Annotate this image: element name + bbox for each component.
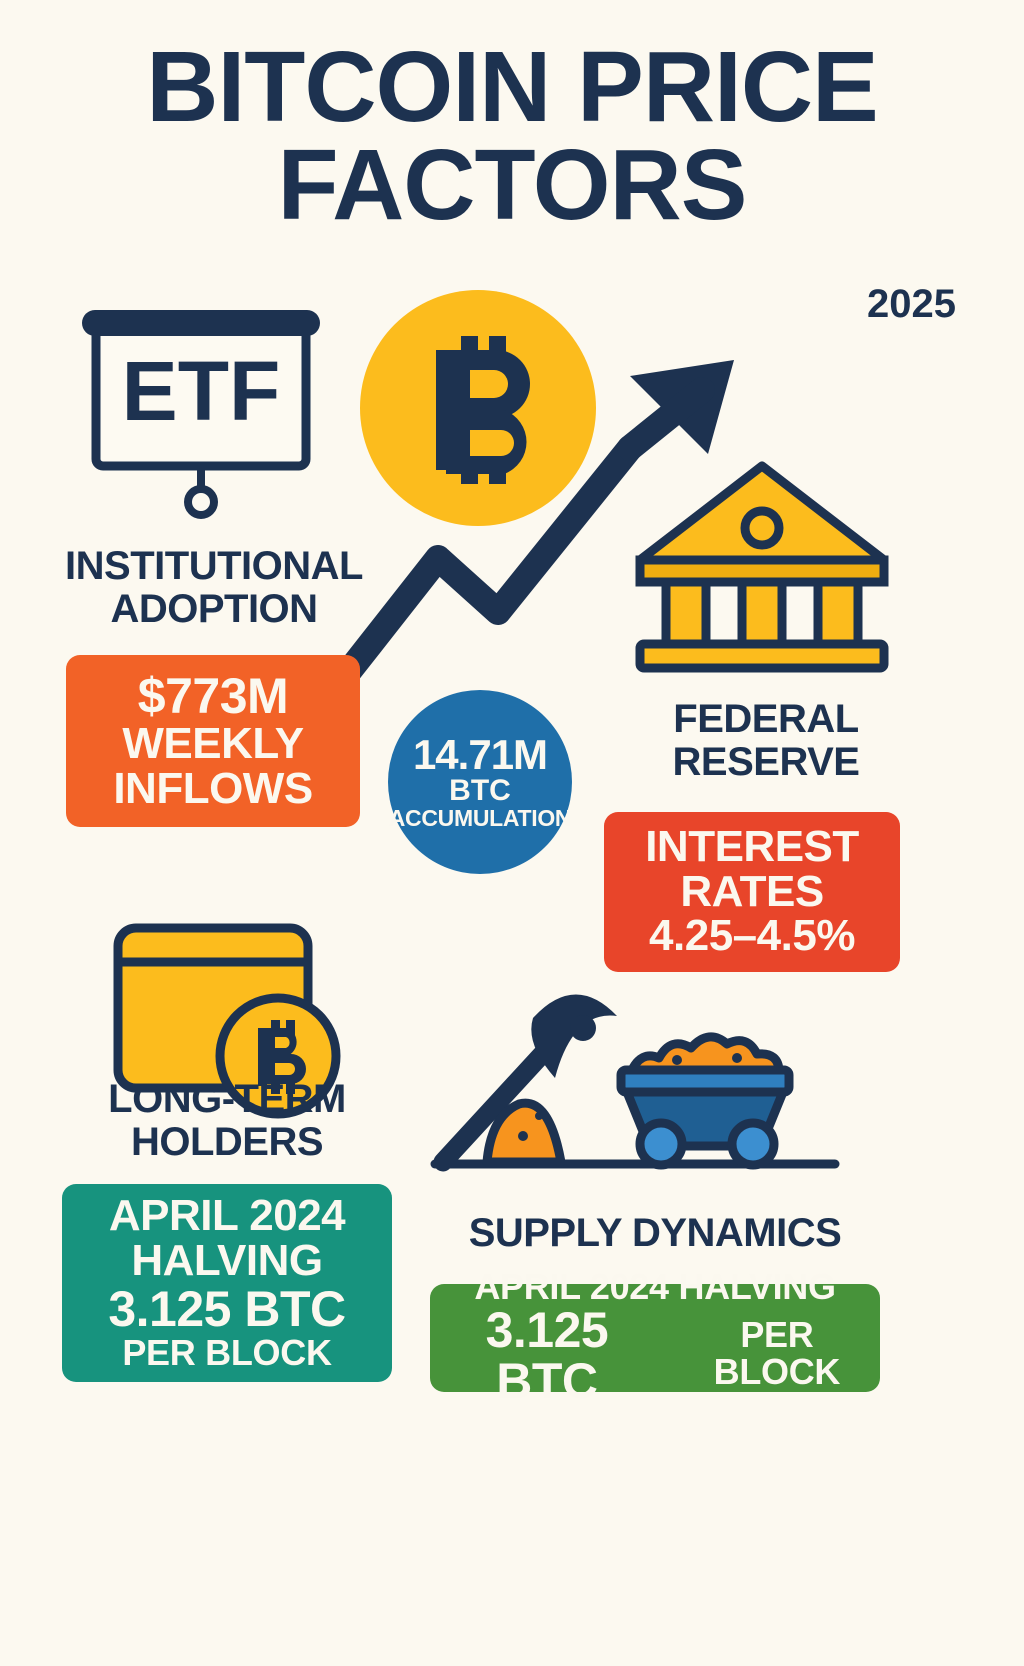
accumulation-line2: BTC [449,776,511,807]
accumulation-line3: ACCUMULATION [389,807,572,830]
lth-halving-line1: APRIL 2024 [109,1194,345,1239]
accumulation-value: 14.71M [413,734,547,777]
etf-icon-text: ETF [122,344,281,438]
interest-rates-line1: INTEREST [645,825,859,870]
supply-halving-line2: 3.125 BTC PER BLOCK [430,1305,880,1407]
supply-dynamics-label-text: SUPPLY DYNAMICS [420,1212,890,1255]
long-term-holders-label-line1: LONG-TERM [62,1078,392,1121]
federal-reserve-label-line1: FEDERAL [630,698,902,741]
supply-halving-line2-weak: PER BLOCK [674,1317,880,1390]
long-term-holders-label-line2: HOLDERS [62,1121,392,1164]
long-term-holders-label: LONG-TERM HOLDERS [62,1078,392,1164]
etf-presentation-screen-icon: ETF [76,308,326,523]
supply-halving-line2-strong: 3.125 BTC [430,1305,664,1407]
interest-rates-stat-box: INTEREST RATES 4.25–4.5% [604,812,900,972]
lth-halving-line2: HALVING [131,1239,322,1284]
institutional-adoption-label: INSTITUTIONAL ADOPTION [44,545,384,631]
lth-halving-line3: 3.125 BTC [108,1284,345,1335]
title-line-1: BITCOIN PRICE [0,38,1024,136]
title-line-2: FACTORS [0,136,1024,234]
interest-rates-line2: RATES [680,870,823,915]
supply-dynamics-label: SUPPLY DYNAMICS [420,1212,890,1255]
lth-halving-line4: PER BLOCK [122,1335,331,1372]
year-label: 2025 [867,282,956,327]
bitcoin-coin-icon [358,288,598,528]
federal-reserve-label-line2: RESERVE [630,741,902,784]
federal-reserve-label: FEDERAL RESERVE [630,698,902,784]
bank-building-icon [626,456,898,682]
weekly-inflows-stat-box: $773M WEEKLY INFLOWS [66,655,360,827]
institutional-adoption-label-line2: ADOPTION [44,588,384,631]
pickaxe-and-mine-cart-icon [425,950,845,1180]
lth-halving-stat-box: APRIL 2024 HALVING 3.125 BTC PER BLOCK [62,1184,392,1382]
weekly-inflows-value: $773M [138,671,288,722]
btc-accumulation-circle: 14.71M BTC ACCUMULATION [388,690,572,874]
supply-halving-line1: APRIL 2024 HALVING [474,1269,835,1306]
page-title: BITCOIN PRICE FACTORS [0,38,1024,234]
weekly-inflows-line2: WEEKLY [122,722,303,767]
weekly-inflows-line3: INFLOWS [113,767,312,812]
infographic-poster: BITCOIN PRICE FACTORS 2025 ETF INSTITUTI… [0,0,1024,1666]
institutional-adoption-label-line1: INSTITUTIONAL [44,545,384,588]
supply-halving-stat-box: APRIL 2024 HALVING 3.125 BTC PER BLOCK [430,1284,880,1392]
